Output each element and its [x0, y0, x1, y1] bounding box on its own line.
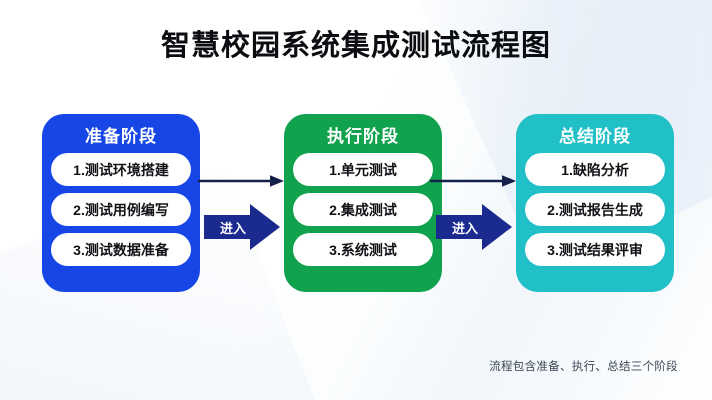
connector-prepare-to-execute: 进入	[198, 160, 284, 256]
step-item: 3.测试结果评审	[525, 233, 665, 266]
thin-arrow-icon	[198, 174, 284, 188]
step-item: 1.测试环境搭建	[51, 153, 191, 186]
step-item: 2.测试报告生成	[525, 193, 665, 226]
stage-card-execute: 执行阶段 1.单元测试 2.集成测试 3.系统测试	[284, 114, 442, 292]
step-item: 2.测试用例编写	[51, 193, 191, 226]
diagram-canvas: 智慧校园系统集成测试流程图 准备阶段 1.测试环境搭建 2.测试用例编写 3.测…	[0, 0, 712, 400]
step-item: 1.单元测试	[293, 153, 433, 186]
connector-label: 进入	[204, 214, 262, 240]
stage-title-summary: 总结阶段	[559, 128, 631, 145]
footer-caption: 流程包含准备、执行、总结三个阶段	[489, 358, 678, 374]
stage-steps-prepare: 1.测试环境搭建 2.测试用例编写 3.测试数据准备	[51, 153, 191, 266]
stage-steps-summary: 1.缺陷分析 2.测试报告生成 3.测试结果评审	[525, 153, 665, 266]
thin-arrow-icon	[430, 174, 516, 188]
stage-steps-execute: 1.单元测试 2.集成测试 3.系统测试	[293, 153, 433, 266]
connector-execute-to-summary: 进入	[430, 160, 516, 256]
step-item: 3.系统测试	[293, 233, 433, 266]
stage-title-execute: 执行阶段	[327, 128, 399, 145]
step-item: 3.测试数据准备	[51, 233, 191, 266]
step-item: 2.集成测试	[293, 193, 433, 226]
stage-card-prepare: 准备阶段 1.测试环境搭建 2.测试用例编写 3.测试数据准备	[42, 114, 200, 292]
stage-title-prepare: 准备阶段	[85, 128, 157, 145]
page-title: 智慧校园系统集成测试流程图	[0, 22, 712, 64]
step-item: 1.缺陷分析	[525, 153, 665, 186]
connector-label: 进入	[436, 214, 494, 240]
stage-card-summary: 总结阶段 1.缺陷分析 2.测试报告生成 3.测试结果评审	[516, 114, 674, 292]
